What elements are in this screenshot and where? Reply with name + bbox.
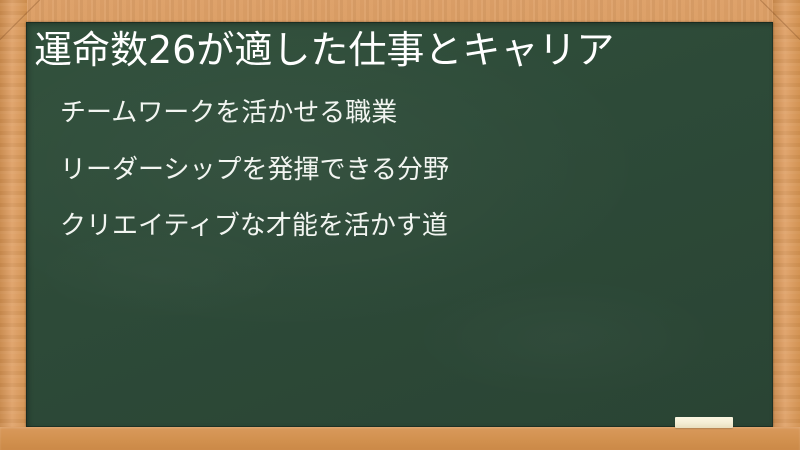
list-item: クリエイティブな才能を活かす道 <box>60 213 750 241</box>
slide-canvas: 運命数26が適した仕事とキャリア チームワークを活かせる職業 リーダーシップを発… <box>0 0 800 450</box>
list-item: リーダーシップを発揮できる分野 <box>60 157 750 185</box>
chalk-ledge <box>0 427 800 450</box>
wooden-frame-right-rail <box>773 0 800 450</box>
slide-title: 運命数26が適した仕事とキャリア <box>34 28 764 73</box>
chalkboard: 運命数26が適した仕事とキャリア チームワークを活かせる職業 リーダーシップを発… <box>26 22 773 427</box>
wooden-frame-left-rail <box>0 0 27 450</box>
chalk-stick-icon <box>675 417 733 428</box>
bullet-list: チームワークを活かせる職業 リーダーシップを発揮できる分野 クリエイティブな才能… <box>60 100 750 270</box>
list-item: チームワークを活かせる職業 <box>60 100 750 128</box>
